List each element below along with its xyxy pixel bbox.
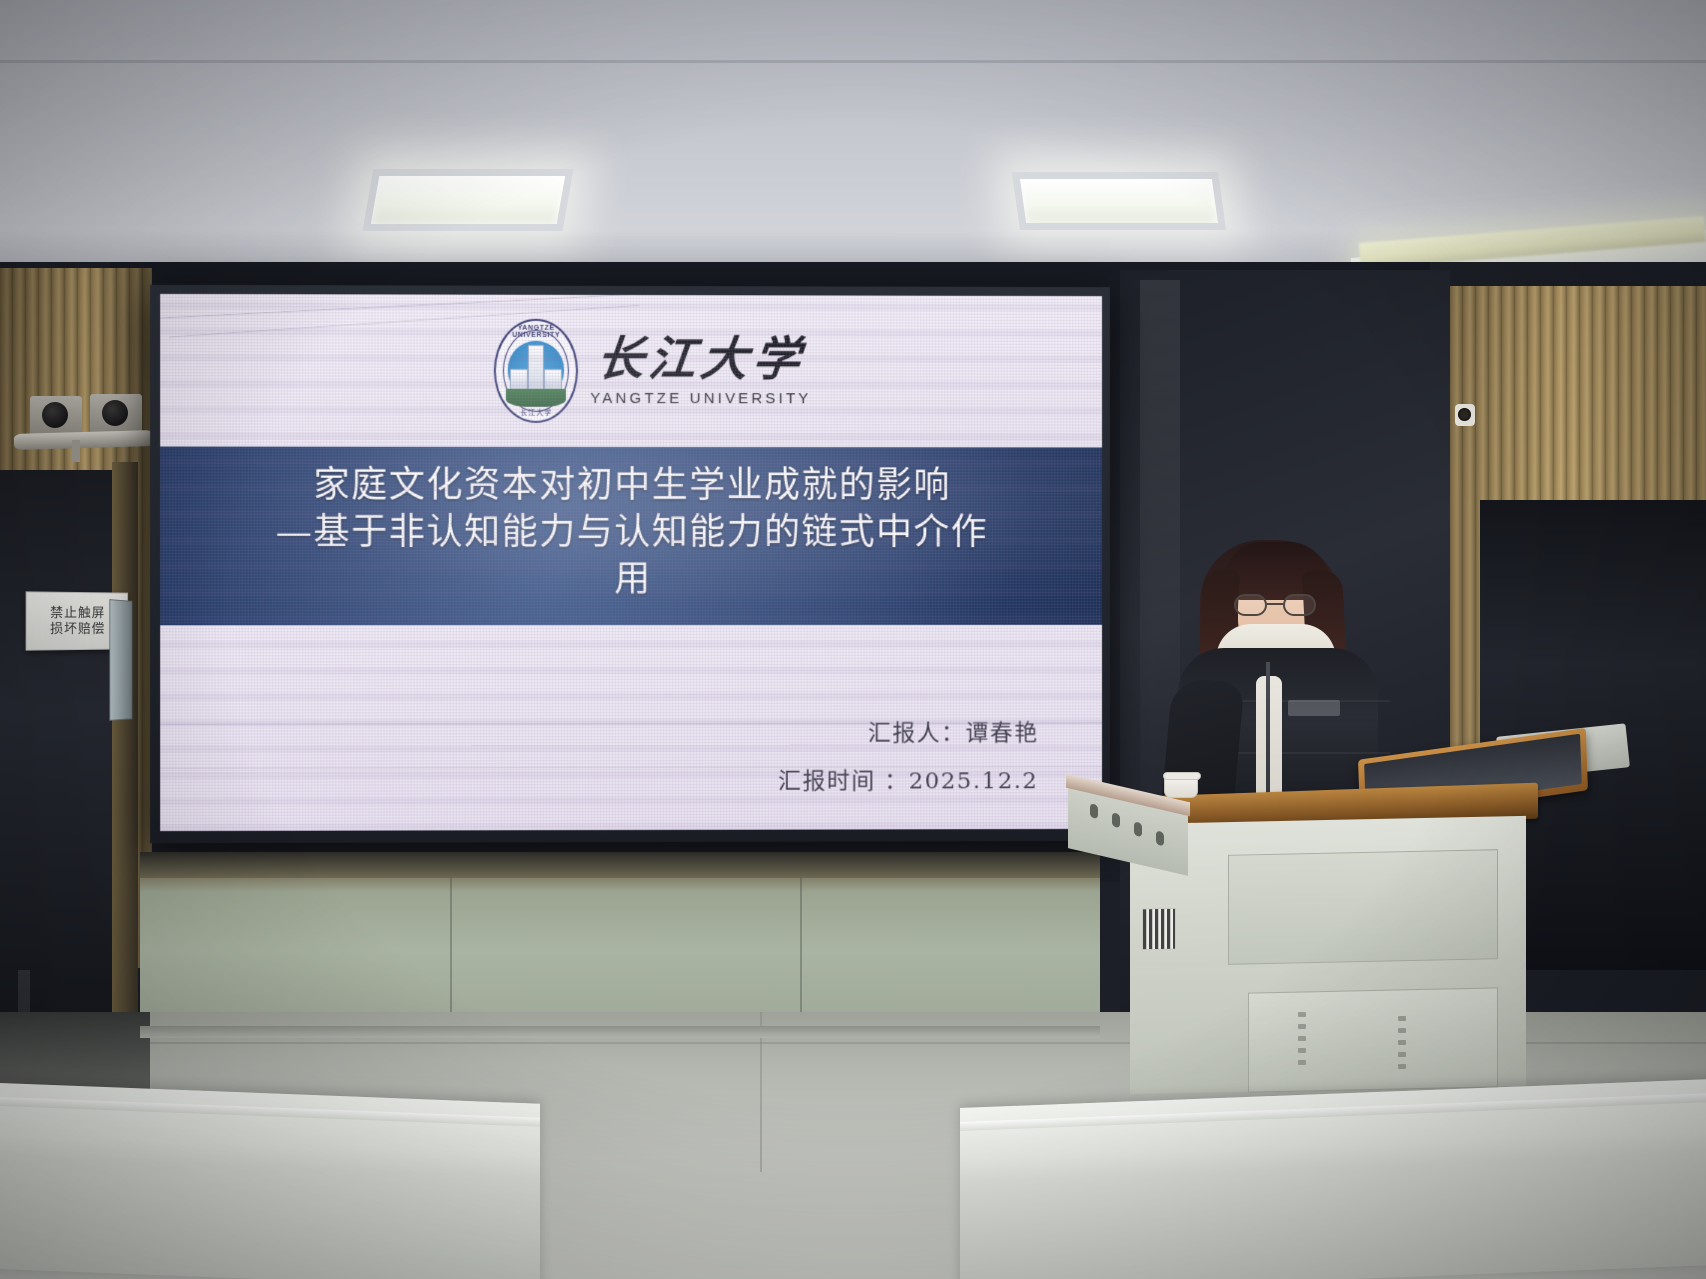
lectern-port[interactable]: [1156, 830, 1164, 846]
warning-sign-line1: 禁止触屏: [50, 605, 105, 621]
slide-title-line-1: 家庭文化资本对初中生学业成就的影响: [276, 463, 988, 510]
slide: YANGTZE UNIVERSITY 长江大学 长江大学 YANGTZE UNI…: [160, 294, 1102, 831]
glasses-lens-left: [1234, 594, 1267, 616]
desk-edge: [0, 1096, 540, 1127]
slide-footer: 汇报人：谭春艳 汇报时间 ：2025.12.2: [160, 625, 1102, 831]
lectern-vent: [1398, 1028, 1406, 1033]
lectern-vent: [1398, 1064, 1406, 1069]
stage-edge: [140, 1026, 1100, 1038]
lectern-vent: [1398, 1040, 1406, 1045]
logo-wordmark-cn: 长江大学: [595, 335, 808, 382]
foreground-desk-right: [960, 1078, 1706, 1279]
wall-camera: [1455, 404, 1475, 426]
slide-title-line-3: 用: [276, 557, 988, 604]
warning-sign-line2: 损坏赔偿: [50, 621, 105, 637]
glasses-lens-right: [1283, 594, 1316, 616]
jacket-brand-tag: [1288, 700, 1340, 716]
qr-code-sticker: [1142, 908, 1176, 951]
lectern-vent: [1298, 1060, 1306, 1065]
seal-ground: [506, 389, 566, 407]
lectern[interactable]: [1118, 790, 1538, 1090]
university-logo: YANGTZE UNIVERSITY 长江大学 长江大学 YANGTZE UNI…: [494, 319, 811, 424]
lectern-port[interactable]: [1134, 821, 1142, 837]
ceiling-seam: [0, 60, 1706, 63]
lectern-vent: [1298, 1012, 1306, 1017]
lectern-port[interactable]: [1112, 812, 1120, 828]
stage-lower-wall: [140, 852, 1100, 1032]
lectern-vent: [1298, 1036, 1306, 1041]
lecture-hall-scene: 禁止触屏 损坏赔偿 YANGTZE UNIVERSITY: [0, 0, 1706, 1279]
glasses-bridge: [1267, 603, 1283, 605]
left-doorway[interactable]: [0, 470, 120, 1070]
lectern-vent: [1298, 1048, 1306, 1053]
left-door-frame: [112, 462, 138, 1074]
led-screen-bezel: YANGTZE UNIVERSITY 长江大学 长江大学 YANGTZE UNI…: [150, 285, 1110, 843]
wall-speaker-left: [30, 396, 82, 436]
led-screen[interactable]: YANGTZE UNIVERSITY 长江大学 长江大学 YANGTZE UNI…: [160, 294, 1102, 831]
paper-cup: [1164, 774, 1198, 798]
foreground-desk-left: [0, 1082, 540, 1279]
wall-speaker-right: [90, 394, 142, 434]
lectern-port[interactable]: [1090, 803, 1098, 819]
ceiling-led-panel-left: [363, 169, 574, 231]
logo-wordmark-en: YANGTZE UNIVERSITY: [590, 389, 811, 406]
slide-header: YANGTZE UNIVERSITY 长江大学 长江大学 YANGTZE UNI…: [160, 294, 1102, 448]
lectern-vent: [1398, 1016, 1406, 1021]
speaker-bracket: [14, 430, 154, 450]
wall-speaker-assembly: [8, 392, 154, 454]
ceiling-led-panel-right: [1012, 172, 1226, 230]
presenter-line: 汇报人：谭春艳: [868, 713, 1039, 747]
stage-wall-seam: [450, 878, 452, 1032]
lectern-panel-upper[interactable]: [1228, 849, 1498, 965]
speaker-cone-icon: [42, 402, 68, 428]
lectern-vent: [1298, 1024, 1306, 1029]
paper-cup-lid: [1163, 772, 1201, 780]
slide-title-line-2: —基于非认知能力与认知能力的链式中介作: [276, 510, 988, 557]
speaker-cone-icon: [102, 400, 128, 426]
slide-title-band: 家庭文化资本对初中生学业成就的影响 —基于非认知能力与认知能力的链式中介作 用: [160, 447, 1102, 626]
camera-lens-icon: [1458, 408, 1471, 421]
glasses-icon: [1234, 594, 1316, 616]
wall-control-plate[interactable]: [109, 599, 132, 721]
lectern-vent: [1398, 1052, 1406, 1057]
seal-bottom-text: 长江大学: [496, 408, 576, 418]
speaker-stem: [72, 440, 80, 462]
logo-wordmark: 长江大学 YANGTZE UNIVERSITY: [590, 335, 811, 406]
university-seal-icon: YANGTZE UNIVERSITY 长江大学: [494, 319, 578, 423]
stage-wall-top-trim: [140, 852, 1100, 878]
lectern-panel-lower[interactable]: [1248, 987, 1498, 1092]
slide-title: 家庭文化资本对初中生学业成就的影响 —基于非认知能力与认知能力的链式中介作 用: [276, 463, 988, 604]
stage-wall-seam: [800, 878, 802, 1032]
